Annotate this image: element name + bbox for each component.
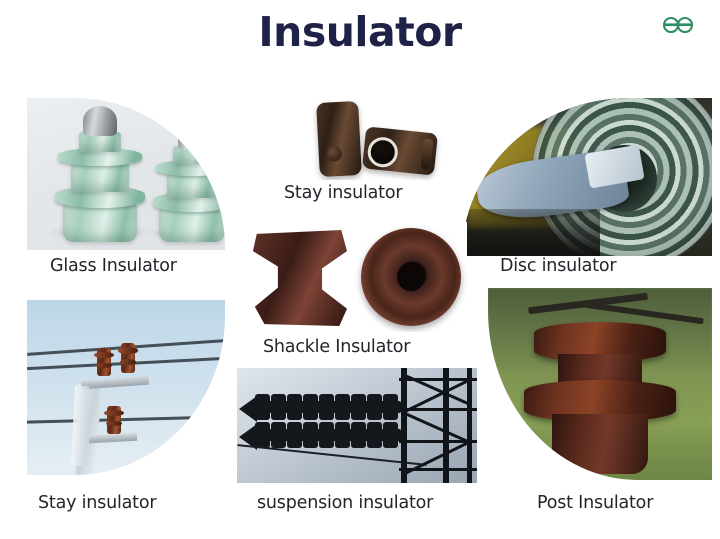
panel-post-insulator — [488, 288, 712, 480]
lattice-tower — [391, 368, 477, 483]
stay-insulator-upright — [316, 101, 362, 177]
glass-insulator-left — [45, 102, 155, 242]
panel-glass-insulator — [27, 98, 225, 250]
glass-insulator-right — [145, 122, 225, 242]
suspension-string-lower — [255, 422, 395, 448]
shackle-insulator-front-view — [361, 228, 461, 326]
panel-shackle-insulator — [247, 222, 467, 332]
caption-post-insulator: Post Insulator — [537, 493, 653, 513]
caption-stay-insulator-top: Stay insulator — [284, 183, 402, 203]
page-title: Insulator — [0, 8, 720, 56]
insulator-infographic: Insulator — [0, 0, 720, 539]
pin-insulator-3 — [107, 406, 121, 434]
caption-shackle-insulator: Shackle Insulator — [263, 337, 410, 357]
panel-suspension-insulator — [237, 368, 477, 483]
pin-insulator-2 — [121, 343, 135, 373]
geeksforgeeks-logo — [656, 12, 700, 38]
caption-disc-insulator: Disc insulator — [500, 256, 616, 276]
caption-suspension-insulator: suspension insulator — [257, 493, 433, 513]
shackle-insulator-side-view — [251, 230, 347, 326]
pin-insulator-1 — [97, 348, 111, 376]
caption-glass-insulator: Glass Insulator — [50, 256, 177, 276]
stay-insulator-lying — [362, 126, 438, 175]
panel-disc-insulator — [462, 98, 712, 256]
caption-stay-insulator-bottom: Stay insulator — [38, 493, 156, 513]
panel-stay-insulator-bottom — [27, 300, 225, 475]
suspension-string-upper — [255, 394, 395, 420]
panel-stay-insulator-top — [300, 96, 448, 180]
post-insulator-base — [552, 414, 648, 474]
